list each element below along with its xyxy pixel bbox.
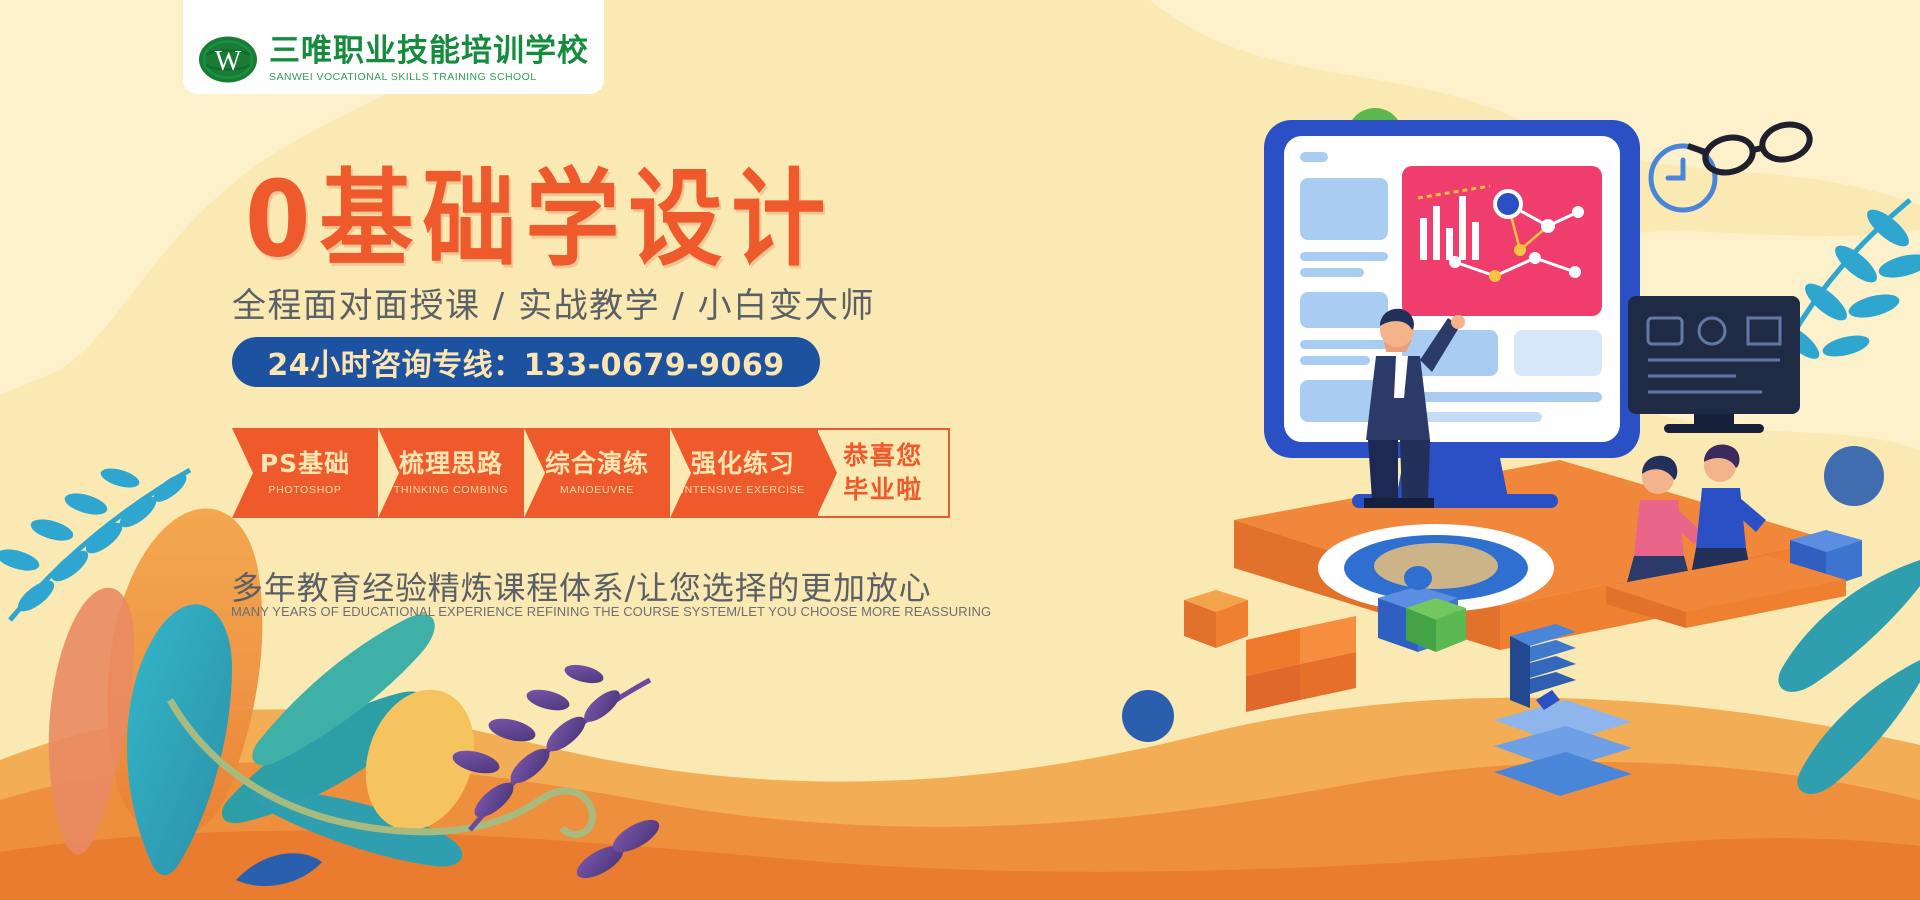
logo-name-en: SANWEI VOCATIONAL SKILLS TRAINING SCHOOL xyxy=(269,72,589,83)
step-title-cn: PS基础 xyxy=(260,450,350,478)
logo-name-cn: 三唯职业技能培训学校 xyxy=(269,36,589,67)
step-title-cn: 综合演练 xyxy=(545,450,649,478)
tagline-cn: 多年教育经验精炼课程体系/让您选择的更加放心 xyxy=(231,563,931,609)
tagline-en: MANY YEARS OF EDUCATIONAL EXPERIENCE REF… xyxy=(231,604,991,619)
dot-blue xyxy=(1122,690,1174,742)
tv-panel xyxy=(1628,296,1800,433)
school-emblem-icon: W xyxy=(198,35,258,84)
chevron-notch-left-icon xyxy=(378,428,399,518)
svg-text:W: W xyxy=(215,46,242,77)
course-step-flow: PS基础 PHOTOSHOP 梳理思路 THINKING COMBING 综合演… xyxy=(232,428,950,518)
consultation-phone-pill[interactable]: 24小时咨询专线：133-0679-9069 xyxy=(232,337,820,387)
step-item[interactable]: 强化练习 INTENSIVE EXERCISE xyxy=(670,428,816,518)
chevron-notch-left-icon xyxy=(524,428,545,518)
chevron-arrow-icon xyxy=(816,428,837,518)
step-title-cn: 梳理思路 xyxy=(399,450,503,478)
step-title-cn: 强化练习 xyxy=(691,450,795,478)
graduation-line-2: 毕业啦 xyxy=(843,473,923,508)
step-title-en: INTENSIVE EXERCISE xyxy=(681,484,805,496)
step-title-en: THINKING COMBING xyxy=(394,484,508,496)
logo-badge: W 三唯职业技能培训学校 SANWEI VOCATIONAL SKILLS TR… xyxy=(183,0,604,94)
tablet-screen xyxy=(1264,120,1640,458)
step-title-en: PHOTOSHOP xyxy=(268,484,341,496)
step-title-en: MANOEUVRE xyxy=(560,484,634,496)
phone-label: 24小时咨询专线：133-0679-9069 xyxy=(267,340,784,384)
step-item[interactable]: 综合演练 MANOEUVRE xyxy=(524,428,670,518)
step-item[interactable]: PS基础 PHOTOSHOP xyxy=(232,428,378,518)
subheadline: 全程面对面授课 / 实战教学 / 小白变大师 xyxy=(232,278,875,327)
chevron-notch-left-icon xyxy=(232,428,253,518)
headline: 0基础学设计 xyxy=(245,168,834,273)
step-item[interactable]: 梳理思路 THINKING COMBING xyxy=(378,428,524,518)
promo-banner: W 三唯职业技能培训学校 SANWEI VOCATIONAL SKILLS TR… xyxy=(0,0,1920,900)
pedestal-small xyxy=(1184,590,1248,648)
chart-panel xyxy=(1402,166,1602,316)
graduation-line-1: 恭喜您 xyxy=(843,439,923,474)
chevron-notch-left-icon xyxy=(670,428,691,518)
